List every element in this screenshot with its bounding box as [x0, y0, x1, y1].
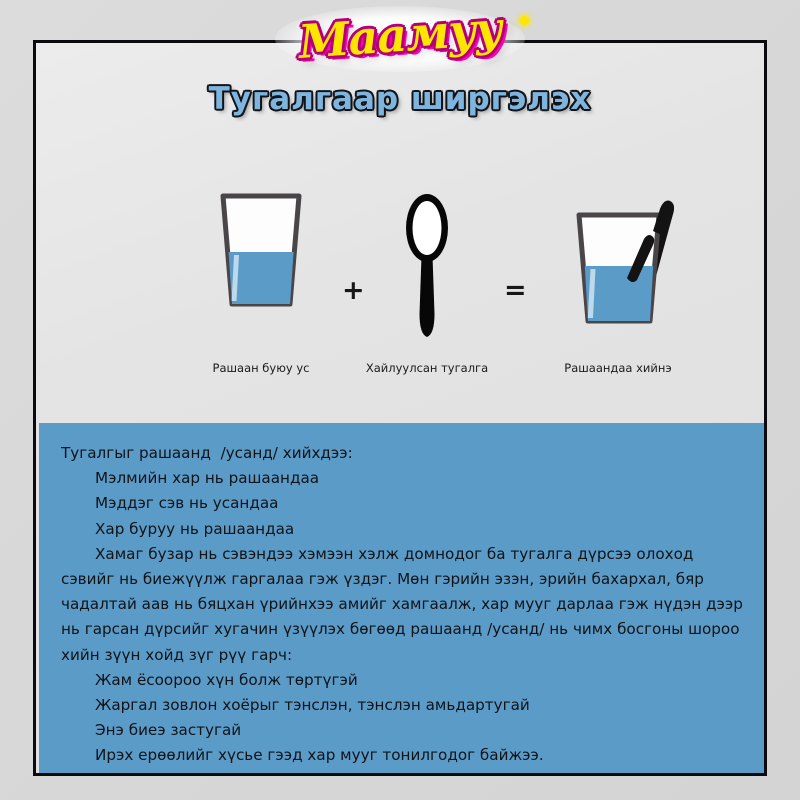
molten-tin-spoon-icon [400, 188, 454, 338]
plus-operator: + [342, 275, 365, 306]
glass-of-water-icon [219, 193, 303, 307]
title-zone: Тугалгаар ширгэлэх [36, 81, 764, 117]
body-line-2: Мэддэг сэв нь усандаа [61, 491, 745, 516]
ritual-text-body: Тугалгыг рашаанд /усанд/ хийхдээ: Мэлмий… [39, 423, 767, 769]
caption-tin: Хайлуулсан тугалга [366, 361, 488, 375]
body-closing-2: Жаргал зовлон хоёрыг тэнслэн, тэнслэн ам… [61, 693, 745, 718]
body-paragraph: Хамаг бузар нь сэвэндээ хэмээн хэлж домн… [61, 542, 745, 668]
equals-operator: = [504, 275, 527, 306]
glass-with-spoon-icon [574, 193, 670, 315]
poster-root: Тугалгаар ширгэлэх Рашаан буюу ус + [0, 0, 800, 800]
ritual-text-panel: Тугалгыг рашаанд /усанд/ хийхдээ: Мэлмий… [39, 423, 767, 776]
illustration-row: Рашаан буюу ус + Хайлуулсан тугалга = [36, 193, 764, 383]
illustration-item-tin: Хайлуулсан тугалга [400, 188, 454, 338]
body-closing-3: Энэ биеэ застугай [61, 718, 745, 743]
body-closing-4: Ирэх ерөөлийг хүсье гээд хар мууг тонилг… [61, 743, 745, 768]
body-line-1: Мэлмийн хар нь рашаандаа [61, 466, 745, 491]
body-line-3: Хар буруу нь рашаандаа [61, 517, 745, 542]
body-heading: Тугалгыг рашаанд /усанд/ хийхдээ: [61, 441, 745, 466]
poster-frame: Тугалгаар ширгэлэх Рашаан буюу ус + [33, 40, 767, 776]
illustration-item-result: Рашаандаа хийнэ [574, 193, 670, 315]
illustration-item-water: Рашаан буюу ус [219, 193, 303, 307]
page-title: Тугалгаар ширгэлэх [209, 81, 592, 117]
body-closing-1: Жам ёсоороо хүн болж төртүгэй [61, 668, 745, 693]
caption-water: Рашаан буюу ус [213, 361, 310, 375]
caption-result: Рашаандаа хийнэ [564, 361, 671, 375]
sparkle-icon [520, 16, 529, 25]
